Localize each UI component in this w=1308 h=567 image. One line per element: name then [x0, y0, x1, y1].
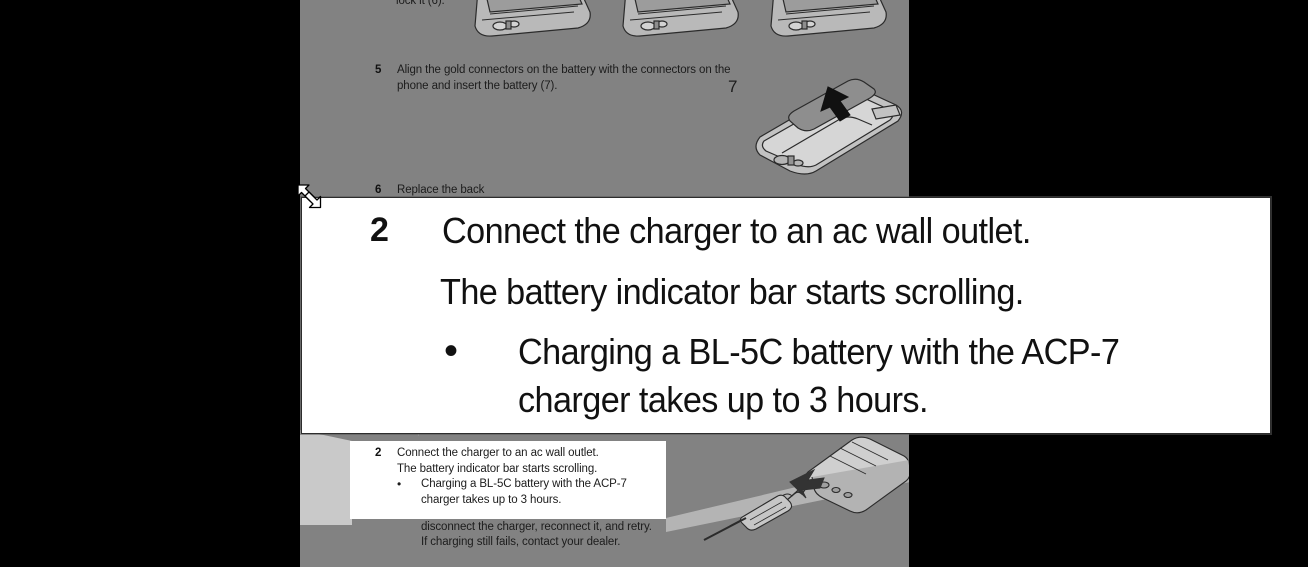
- magnifier-cone-left: [300, 430, 352, 525]
- magnifier-source-region[interactable]: 2 Connect the charger to an ac wall outl…: [350, 441, 666, 519]
- magnified-line-2: The battery indicator bar starts scrolli…: [440, 271, 1024, 313]
- magnified-region-overlay[interactable]: 2 Connect the charger to an ac wall outl…: [301, 197, 1271, 434]
- sel-step-2-line2: The battery indicator bar starts scrolli…: [397, 462, 665, 478]
- step-5: 5 Align the gold connectors on the batte…: [375, 63, 735, 94]
- screen: lock it (6).: [0, 0, 1308, 567]
- magnifier-source-content: 2 Connect the charger to an ac wall outl…: [375, 446, 665, 508]
- charging-bullet-2-line3: If charging still fails, contact your de…: [421, 535, 795, 551]
- magnified-bullet-dot-icon: •: [444, 331, 458, 371]
- sel-bullet-1-line1: Charging a BL-5C battery with the ACP-7: [421, 477, 665, 493]
- sel-bullet-1-line2: charger takes up to 3 hours.: [421, 493, 665, 509]
- bullet-dot-icon: •: [397, 477, 401, 493]
- sel-step-2: 2 Connect the charger to an ac wall outl…: [375, 446, 665, 462]
- sel-step-2-line2-row: The battery indicator bar starts scrolli…: [375, 462, 665, 478]
- step-5-number: 5: [375, 63, 381, 79]
- phone-illustration-row: [470, 0, 900, 50]
- magnified-bullet-line-1: Charging a BL-5C battery with the ACP-7: [518, 331, 1119, 373]
- charging-bullet-2-line2: disconnect the charger, reconnect it, an…: [421, 520, 795, 536]
- magnified-bullet-line-2: charger takes up to 3 hours.: [518, 379, 928, 421]
- figure-7: 7: [720, 75, 909, 185]
- magnified-line-1: Connect the charger to an ac wall outlet…: [442, 210, 1031, 252]
- sel-step-2-line1: Connect the charger to an ac wall outlet…: [397, 446, 665, 462]
- magnified-step-number: 2: [370, 211, 388, 250]
- figure-7-label: 7: [728, 77, 737, 97]
- sel-step-2-number: 2: [375, 446, 381, 462]
- sel-bullet-1: • Charging a BL-5C battery with the ACP-…: [421, 477, 665, 508]
- step-5-text: Align the gold connectors on the battery…: [397, 63, 735, 94]
